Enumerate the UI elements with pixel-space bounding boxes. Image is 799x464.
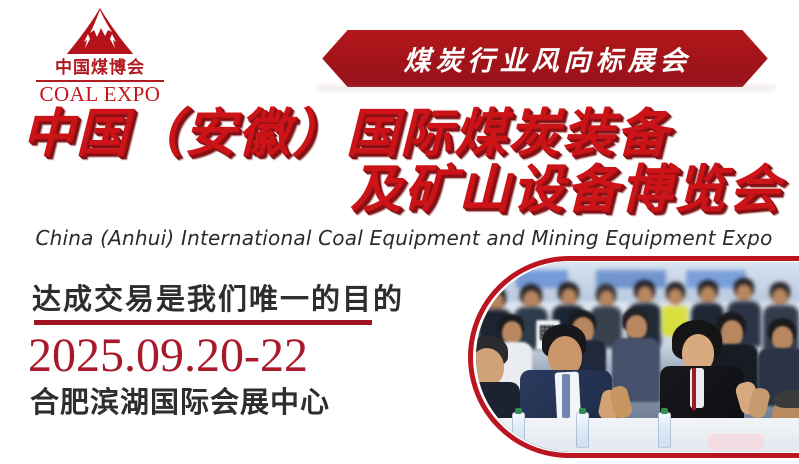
title-line-2: 及矿山设备博览会 [22,162,782,218]
divider-rule [34,320,372,325]
logo-chinese-name: 中国煤博会 [24,58,176,78]
main-title: 中国（安徽）国际煤炭装备 及矿山设备博览会 [22,106,782,218]
expo-poster: 中国煤博会 COAL EXPO 煤炭行业风向标展会 中国（安徽）国际煤炭装备 及… [0,0,799,464]
event-date: 2025.09.20-22 [28,328,308,383]
title-line-1: 中国（安徽）国际煤炭装备 [22,106,782,162]
event-venue: 合肥滨湖国际会展中心 [30,379,330,421]
english-subtitle: China (Anhui) International Coal Equipme… [28,226,780,250]
tagline: 达成交易是我们唯一的目的 [32,276,404,318]
logo-english-name: COAL EXPO [24,82,176,106]
ribbon-shadow [316,86,776,92]
logo[interactable]: 中国煤博会 COAL EXPO [24,6,176,106]
event-photo [476,262,799,452]
ribbon-banner [310,30,780,87]
